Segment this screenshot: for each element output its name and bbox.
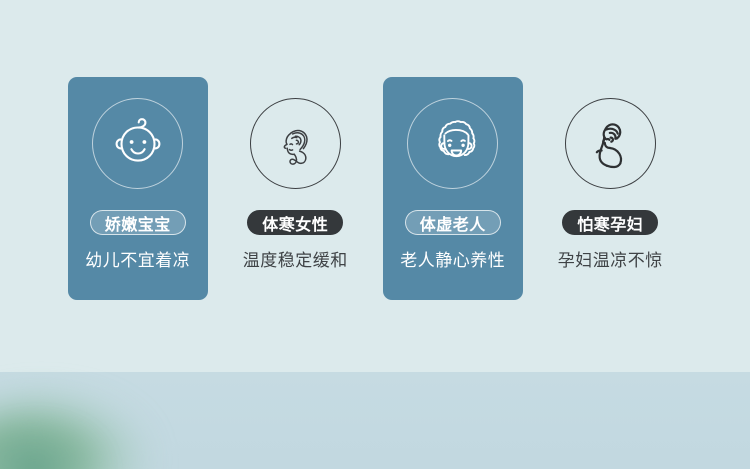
audience-badge: 娇嫩宝宝: [90, 210, 186, 235]
elderly-man-face-icon: [407, 98, 498, 189]
audience-subtitle: 幼儿不宜着凉: [85, 246, 190, 271]
audience-card-list: 娇嫩宝宝 幼儿不宜着凉: [68, 77, 680, 300]
audience-card-woman[interactable]: 体寒女性 温度稳定缓和: [226, 77, 366, 300]
audience-subtitle: 温度稳定缓和: [243, 246, 348, 271]
audience-subtitle: 孕妇温凉不惊: [558, 246, 663, 271]
audience-badge: 怕寒孕妇: [562, 210, 658, 235]
promo-banner: 娇嫩宝宝 幼儿不宜着凉: [0, 0, 750, 469]
audience-card-elderly[interactable]: 体虚老人 老人静心养性: [383, 77, 523, 300]
baby-face-icon: [92, 98, 183, 189]
audience-card-baby[interactable]: 娇嫩宝宝 幼儿不宜着凉: [68, 77, 208, 300]
pregnant-woman-icon: [565, 98, 656, 189]
woman-profile-icon: [250, 98, 341, 189]
audience-subtitle: 老人静心养性: [400, 246, 505, 271]
audience-badge: 体寒女性: [247, 210, 343, 235]
audience-badge: 体虚老人: [405, 210, 501, 235]
audience-card-pregnant[interactable]: 怕寒孕妇 孕妇温凉不惊: [541, 77, 681, 300]
